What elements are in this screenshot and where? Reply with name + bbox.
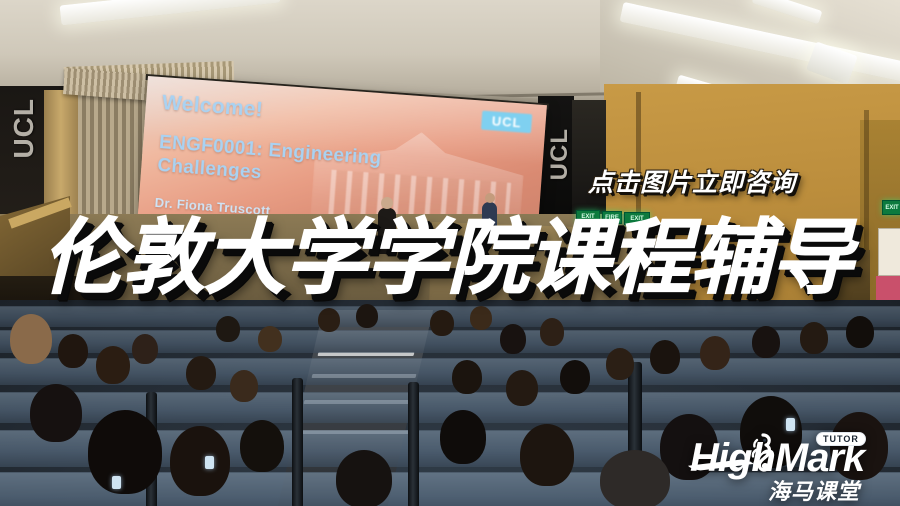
brand-watermark[interactable]: HighMark TUTOR 海马课堂 bbox=[690, 430, 890, 500]
audience-head bbox=[258, 326, 282, 352]
slide-course-title: ENGF0001: Engineering Challenges bbox=[157, 131, 410, 195]
brand-name-cn: 海马课堂 bbox=[768, 474, 860, 506]
audience-head bbox=[356, 304, 378, 328]
cta-text[interactable]: 点击图片立即咨询 bbox=[588, 163, 796, 199]
audience-head bbox=[96, 346, 130, 384]
ucl-wordmark-left: UCL bbox=[8, 98, 40, 159]
phone-screen bbox=[205, 456, 214, 469]
audience-head bbox=[752, 326, 780, 358]
ucl-logo-badge: UCL bbox=[481, 111, 532, 134]
audience-head bbox=[560, 360, 590, 394]
audience-head bbox=[430, 310, 454, 336]
audience-head bbox=[500, 324, 526, 354]
ucl-wordmark-right: UCL bbox=[546, 128, 574, 180]
audience-head bbox=[318, 308, 340, 332]
audience-head bbox=[700, 336, 730, 370]
audience-head bbox=[58, 334, 88, 368]
audience-head bbox=[520, 424, 574, 486]
audience-head bbox=[170, 426, 230, 496]
audience-head bbox=[600, 450, 670, 506]
audience-head bbox=[506, 370, 538, 406]
audience-head bbox=[186, 356, 216, 390]
audience-head bbox=[650, 340, 680, 374]
audience-head bbox=[230, 370, 258, 402]
slide-welcome-text: Welcome! bbox=[161, 91, 264, 122]
audience-head bbox=[88, 410, 162, 494]
aisle-pole bbox=[408, 382, 419, 506]
audience-head bbox=[800, 322, 828, 354]
exit-sign: EXIT bbox=[882, 200, 900, 215]
audience-head bbox=[216, 316, 240, 342]
audience-head bbox=[440, 410, 486, 464]
audience-head bbox=[336, 450, 392, 506]
audience-head bbox=[470, 306, 492, 330]
audience-head bbox=[30, 384, 82, 442]
audience-head bbox=[240, 420, 284, 472]
headline-text: 伦敦大学学院课程辅导 bbox=[42, 218, 852, 300]
promo-image-canvas: UCL UCL Welcome! ENGF0001: Engineering C… bbox=[0, 0, 900, 506]
audience-head bbox=[606, 348, 634, 380]
tutor-badge: TUTOR bbox=[816, 432, 866, 446]
aisle-pole bbox=[292, 378, 303, 506]
phone-screen bbox=[112, 476, 121, 489]
audience-head bbox=[452, 360, 482, 394]
seat-row bbox=[0, 358, 900, 385]
wall-poster bbox=[878, 228, 900, 276]
audience-head bbox=[540, 318, 564, 346]
audience-head bbox=[132, 334, 158, 364]
wall-poster-red bbox=[876, 276, 900, 300]
audience-head bbox=[10, 314, 52, 364]
audience-head bbox=[846, 316, 874, 348]
